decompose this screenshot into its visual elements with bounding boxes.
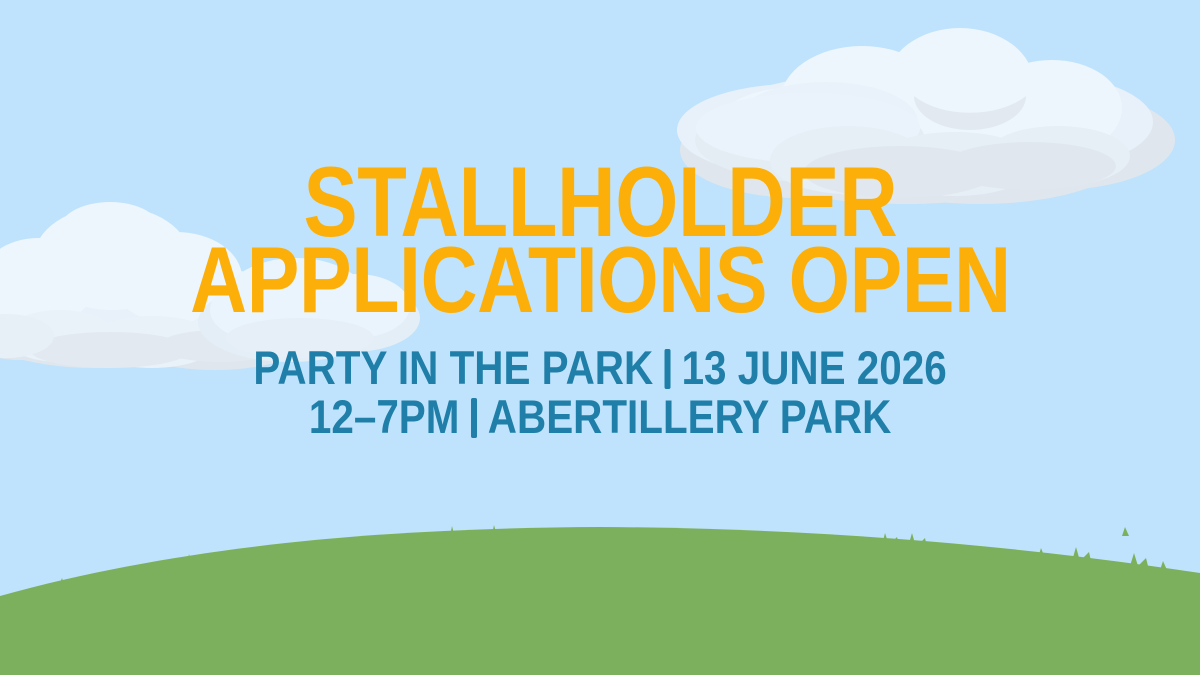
poster-canvas: STALLHOLDER APPLICATIONS OPEN PARTY IN T… [0,0,1200,675]
grass-hill-layer [0,0,1200,675]
grass-hill-icon [0,525,1200,675]
